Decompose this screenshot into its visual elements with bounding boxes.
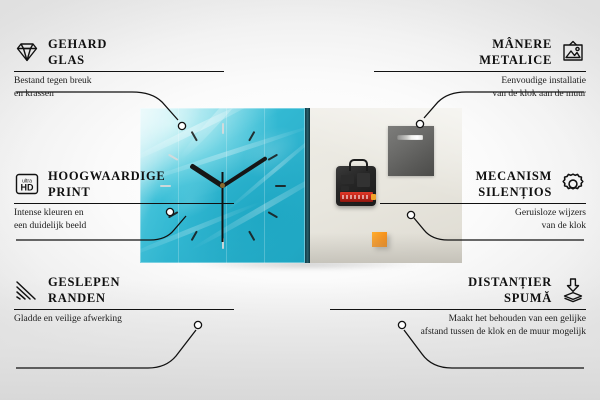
callout-desc-line2: en krassen: [14, 88, 224, 101]
callout-gehard-glas: GEHARD GLAS Bestand tegen breuk en krass…: [14, 36, 224, 100]
gear-icon: [560, 171, 586, 197]
callout-desc-line1: Eenvoudige installatie: [374, 75, 586, 88]
callout-hoogwaardige-print: ultra HD HOOGWAARDIGE PRINT Intense kleu…: [14, 168, 234, 232]
callout-desc-line1: Bestand tegen breuk: [14, 75, 224, 88]
callout-title-line1: HOOGWAARDIGE: [48, 169, 165, 183]
callout-title-line1: GESLEPEN: [48, 275, 120, 289]
callout-title-line2: PRINT: [48, 185, 90, 199]
callout-title-line2: SILENȚIOS: [478, 185, 552, 199]
callout-title-line2: SPUMĂ: [504, 291, 552, 305]
svg-text:HD: HD: [21, 183, 34, 193]
bevel-lines-icon: [14, 277, 40, 303]
arrow-layers-icon: [560, 277, 586, 303]
callout-divider: [14, 203, 234, 204]
callout-divider: [330, 309, 586, 310]
callout-manere-metalice: MÂNERE METALICE Eenvoudige installatie v…: [374, 36, 586, 100]
callout-mecanism-silentios: MECANISM SILENȚIOS Geruisloze wijzers va…: [380, 168, 586, 232]
callout-divider: [380, 203, 586, 204]
callout-desc-line1: Intense kleuren en: [14, 207, 234, 220]
diamond-icon: [14, 39, 40, 65]
callout-title-line1: DISTANȚIER: [468, 275, 552, 289]
callout-title-line1: MECANISM: [476, 169, 552, 183]
callout-desc-line2: afstand tussen de klok en de muur mogeli…: [330, 326, 586, 339]
callout-desc-line1: Gladde en veilige afwerking: [14, 313, 234, 326]
callout-divider: [14, 71, 224, 72]
aa-battery: [340, 192, 373, 202]
callout-divider: [374, 71, 586, 72]
clock-mechanism: [336, 166, 376, 206]
picture-hanger-icon: [560, 39, 586, 65]
callout-title-line1: GEHARD: [48, 37, 107, 51]
ultra-hd-icon: ultra HD: [14, 171, 40, 197]
callout-desc-line2: een duidelijk beeld: [14, 220, 234, 233]
callout-desc-line1: Maakt het behouden van een gelijke: [330, 313, 586, 326]
callout-title-line2: GLAS: [48, 53, 85, 67]
hanger-slot: [397, 135, 423, 140]
callout-desc-line2: van de klok aan de muur: [374, 88, 586, 101]
callout-title-line1: MÂNERE: [492, 37, 552, 51]
callout-title-line2: RANDEN: [48, 291, 106, 305]
callout-title-line2: METALICE: [479, 53, 552, 67]
callout-divider: [14, 309, 234, 310]
callout-geslepen-randen: GESLEPEN RANDEN Gladde en veilige afwerk…: [14, 274, 234, 326]
callout-distantier-spuma: DISTANȚIER SPUMĂ Maakt het behouden van …: [330, 274, 586, 338]
callout-desc-line1: Geruisloze wijzers: [380, 207, 586, 220]
callout-desc-line2: van de klok: [380, 220, 586, 233]
mechanism-hanging-loop: [349, 159, 368, 171]
